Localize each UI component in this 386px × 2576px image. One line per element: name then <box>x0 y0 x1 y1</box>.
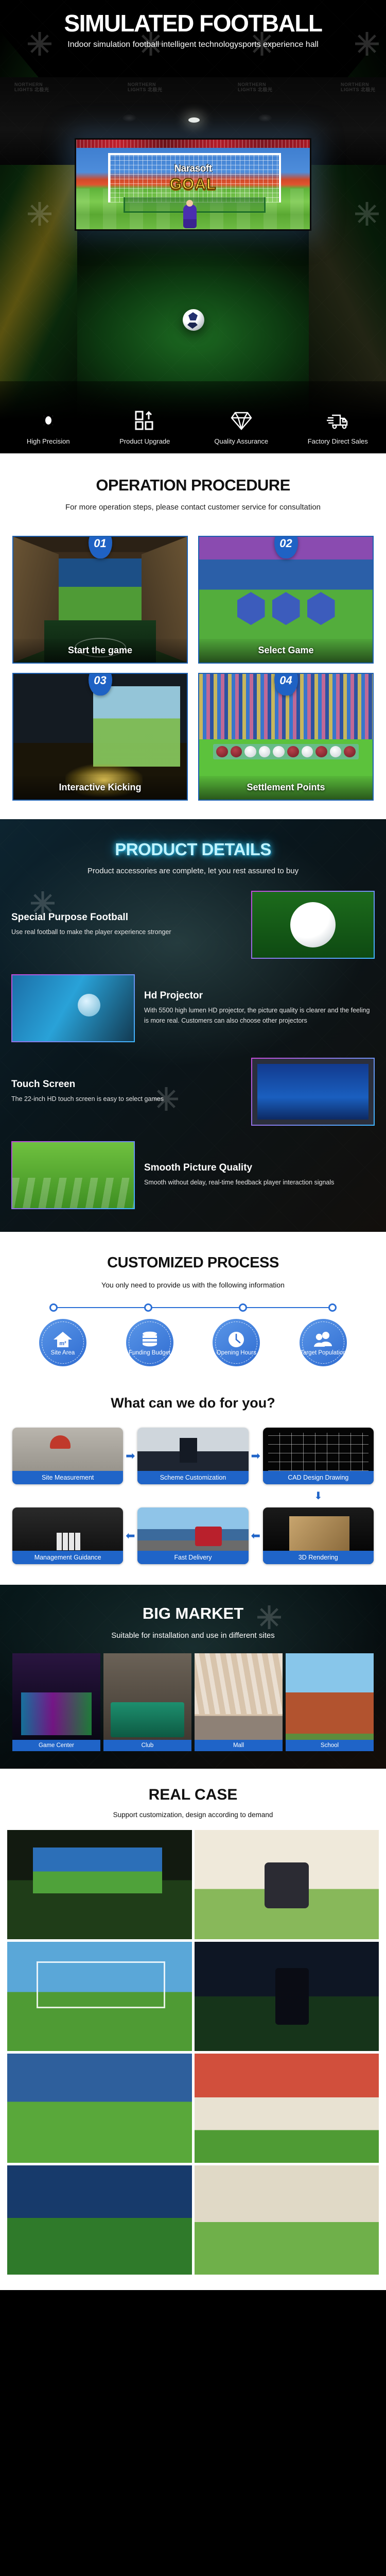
watermark-line-2: LIGHTS 北极光 <box>238 87 273 92</box>
detail-title: Hd Projector <box>144 990 375 1002</box>
operation-procedure-section: OPERATION PROCEDURE For more operation s… <box>0 453 386 819</box>
feature-label: Product Upgrade <box>119 437 170 445</box>
venue-label: Club <box>103 1740 191 1751</box>
process-step-funding-budget[interactable]: Funding Budget <box>126 1319 173 1366</box>
service-label: CAD Design Drawing <box>263 1471 374 1484</box>
ceiling-spot-light <box>258 114 272 122</box>
service-card-3d-rendering[interactable]: 3D Rendering <box>263 1507 374 1564</box>
timeline-dot <box>239 1303 247 1312</box>
service-label: Management Guidance <box>12 1551 123 1564</box>
operation-step-grid: 01 Start the game 02 Select Game 03 Inte… <box>12 536 374 801</box>
product-upgrade-icon <box>133 409 156 432</box>
watermark-text: NORTHERN LIGHTS 北极光 <box>128 82 163 93</box>
case-photo[interactable] <box>7 1942 192 2051</box>
hero-feature-row: High Precision Product Upgrade <box>0 381 386 453</box>
arrow-down-icon: ⬇ <box>314 1489 323 1502</box>
watermark-line-2: LIGHTS 北极光 <box>341 87 376 92</box>
feature-product-upgrade: Product Upgrade <box>97 381 194 453</box>
goal-text: GOAL <box>76 176 310 193</box>
arrow-right-icon: ➡ <box>249 1449 263 1463</box>
watermark-text: NORTHERN LIGHTS 北极光 <box>341 82 376 93</box>
goalkeeper-figure <box>183 205 197 228</box>
detail-desc: Smooth without delay, real-time feedback… <box>144 1178 375 1188</box>
operation-title: OPERATION PROCEDURE <box>12 476 374 495</box>
product-details-subtitle: Product accessories are complete, let yo… <box>0 867 386 875</box>
case-photo[interactable] <box>195 1830 379 1939</box>
watermark-line-1: NORTHERN <box>14 82 43 87</box>
hero-projection-screen: Narasoft GOAL <box>75 138 311 231</box>
arrow-left-icon: ⬅ <box>123 1529 137 1543</box>
detail-image-football <box>251 891 375 959</box>
process-icon-row: m² Site Area Funding Budget <box>12 1312 374 1366</box>
venue-grid: Game Center Club Mall School <box>0 1653 386 1751</box>
timeline-dot <box>328 1303 337 1312</box>
real-case-subtitle: Support customization, design according … <box>0 1811 386 1819</box>
service-label: Scheme Customization <box>137 1471 248 1484</box>
page-subtitle: Indoor simulation football intelligent t… <box>0 39 386 50</box>
scoreboard-ticker <box>76 140 310 148</box>
clock-icon <box>226 1329 246 1348</box>
service-label: 3D Rendering <box>263 1551 374 1564</box>
services-title: What can we do for you? <box>12 1395 374 1411</box>
venue-image <box>12 1653 100 1751</box>
step-caption: Interactive Kicking <box>13 776 187 800</box>
watermark-star-icon <box>355 202 379 226</box>
service-card-fast-delivery[interactable]: Fast Delivery <box>137 1507 248 1564</box>
product-detail-item-picture-quality: Smooth Picture Quality Smooth without de… <box>0 1141 386 1209</box>
detail-title: Special Purpose Football <box>11 912 242 923</box>
product-landing-page: SIMULATED FOOTBALL Indoor simulation foo… <box>0 0 386 2290</box>
real-case-grid <box>0 1830 386 2275</box>
operation-step-04[interactable]: 04 Settlement Points <box>198 673 374 801</box>
watermark-star-icon <box>28 202 51 226</box>
case-photo[interactable] <box>7 2054 192 2163</box>
watermark-line-2: LIGHTS 北极光 <box>14 87 49 92</box>
big-market-title: BIG MARKET <box>0 1604 386 1623</box>
delivery-truck-icon <box>326 409 349 432</box>
service-card-cad-design-drawing[interactable]: CAD Design Drawing <box>263 1428 374 1484</box>
venue-label: Mall <box>195 1740 283 1751</box>
detail-title: Touch Screen <box>11 1079 242 1090</box>
ceiling-spot-light <box>122 114 136 122</box>
step-caption: Select Game <box>199 639 373 663</box>
services-grid: Site Measurement ➡ Scheme Customization … <box>12 1428 374 1564</box>
page-title: SIMULATED FOOTBALL <box>0 9 386 37</box>
process-step-opening-hours[interactable]: Opening Hours <box>213 1319 260 1366</box>
venue-card-school[interactable]: School <box>286 1653 374 1751</box>
operation-step-03[interactable]: 03 Interactive Kicking <box>12 673 188 801</box>
feature-label: Quality Assurance <box>214 437 268 445</box>
process-timeline <box>49 1303 337 1312</box>
service-card-site-measurement[interactable]: Site Measurement <box>12 1428 123 1484</box>
feature-high-precision: High Precision <box>0 381 97 453</box>
service-card-scheme-customization[interactable]: Scheme Customization <box>137 1428 248 1484</box>
customized-process-section: CUSTOMIZED PROCESS You only need to prov… <box>0 1232 386 1382</box>
step-caption: Start the game <box>13 639 187 663</box>
diamond-icon <box>230 409 253 432</box>
process-step-label: Site Area <box>51 1350 75 1357</box>
case-photo[interactable] <box>7 1830 192 1939</box>
timeline-bar <box>54 1307 332 1308</box>
services-section: What can we do for you? Site Measurement… <box>0 1382 386 1585</box>
detail-desc: With 5500 high lumen HD projector, the p… <box>144 1006 375 1026</box>
watermark-text: NORTHERN LIGHTS 北极光 <box>14 82 49 93</box>
venue-image <box>195 1653 283 1751</box>
operation-step-02[interactable]: 02 Select Game <box>198 536 374 664</box>
venue-card-game-center[interactable]: Game Center <box>12 1653 100 1751</box>
timeline-dot <box>144 1303 152 1312</box>
step-caption: Settlement Points <box>199 776 373 800</box>
arrow-left-icon: ⬅ <box>249 1529 263 1543</box>
big-market-section: BIG MARKET Suitable for installation and… <box>0 1585 386 1769</box>
process-step-label: Funding Budget <box>129 1350 170 1357</box>
big-market-subtitle: Suitable for installation and use in dif… <box>0 1631 386 1640</box>
feature-quality-assurance: Quality Assurance <box>193 381 290 453</box>
game-brand-label: Narasoft <box>76 163 310 175</box>
ceiling-lamp-icon <box>188 117 200 123</box>
venue-card-mall[interactable]: Mall <box>195 1653 283 1751</box>
real-case-section: REAL CASE Support customization, design … <box>0 1769 386 2290</box>
product-detail-item-projector: Hd Projector With 5500 high lumen HD pro… <box>0 974 386 1042</box>
case-photo[interactable] <box>195 2165 379 2275</box>
venue-card-club[interactable]: Club <box>103 1653 191 1751</box>
case-photo[interactable] <box>195 2054 379 2163</box>
process-step-target-population[interactable]: Target Population <box>300 1319 347 1366</box>
customized-process-title: CUSTOMIZED PROCESS <box>12 1255 374 1272</box>
product-details-title: PRODUCT DETAILS <box>0 840 386 859</box>
venue-image <box>103 1653 191 1751</box>
pitch-graphic: Narasoft GOAL <box>76 148 310 229</box>
watermark-line-1: NORTHERN <box>128 82 156 87</box>
detail-image-touch-screen <box>251 1058 375 1126</box>
process-step-site-area[interactable]: m² Site Area <box>39 1319 86 1366</box>
product-details-section: PRODUCT DETAILS Product accessories are … <box>0 819 386 1232</box>
customized-process-subtitle: You only need to provide us with the fol… <box>12 1281 374 1289</box>
real-case-title: REAL CASE <box>0 1786 386 1804</box>
watermark-line-2: LIGHTS 北极光 <box>128 87 163 92</box>
detail-desc: Use real football to make the player exp… <box>11 927 242 937</box>
process-step-label: Opening Hours <box>217 1350 256 1357</box>
feature-label: Factory Direct Sales <box>308 437 368 445</box>
process-step-label: Target Population <box>300 1350 346 1357</box>
funding-stack-icon <box>139 1329 160 1348</box>
operation-subtitle: For more operation steps, please contact… <box>12 502 374 513</box>
service-card-management-guidance[interactable]: Management Guidance <box>12 1507 123 1564</box>
precision-target-icon <box>37 409 60 432</box>
detail-image-projector <box>11 974 135 1042</box>
detail-desc: The 22-inch HD touch screen is easy to s… <box>11 1094 242 1104</box>
venue-image <box>286 1653 374 1751</box>
detail-title: Smooth Picture Quality <box>144 1162 375 1174</box>
people-icon <box>312 1329 334 1348</box>
product-detail-item-football: Special Purpose Football Use real footba… <box>0 891 386 959</box>
service-label: Site Measurement <box>12 1471 123 1484</box>
venue-label: School <box>286 1740 374 1751</box>
product-detail-item-touch-screen: Touch Screen The 22-inch HD touch screen… <box>0 1058 386 1126</box>
venue-label: Game Center <box>12 1740 100 1751</box>
service-label: Fast Delivery <box>137 1551 248 1564</box>
hero-section: SIMULATED FOOTBALL Indoor simulation foo… <box>0 0 386 453</box>
watermark-line-1: NORTHERN <box>341 82 369 87</box>
watermark-text: NORTHERN LIGHTS 北极光 <box>238 82 273 93</box>
feature-label: High Precision <box>27 437 70 445</box>
football-icon <box>183 309 204 331</box>
operation-step-01[interactable]: 01 Start the game <box>12 536 188 664</box>
house-area-icon: m² <box>52 1329 73 1348</box>
arrow-right-icon: ➡ <box>123 1449 137 1463</box>
detail-image-picture-quality <box>11 1141 135 1209</box>
case-photo[interactable] <box>7 2165 192 2275</box>
feature-factory-direct-sales: Factory Direct Sales <box>290 381 386 453</box>
svg-text:m²: m² <box>59 1341 66 1347</box>
case-photo[interactable] <box>195 1942 379 2051</box>
timeline-dot <box>49 1303 58 1312</box>
watermark-line-1: NORTHERN <box>238 82 266 87</box>
